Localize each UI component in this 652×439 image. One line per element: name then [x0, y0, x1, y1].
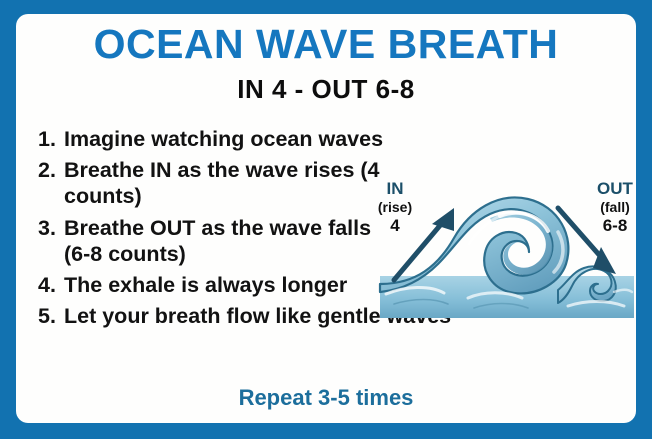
poster-card: OCEAN WAVE BREATH IN 4 - OUT 6-8 1. Imag… [16, 14, 636, 423]
ocean-wave-illustration: IN (rise) 4 OUT (fall) 6-8 [372, 172, 636, 330]
inhale-label: IN [387, 179, 404, 198]
list-item-number: 1. [38, 126, 64, 152]
list-item-number: 5. [38, 303, 64, 329]
list-item-label: Breathe IN as the wave rises (4 counts) [64, 157, 394, 209]
inhale-label-group: IN (rise) 4 [378, 179, 412, 235]
poster-frame: OCEAN WAVE BREATH IN 4 - OUT 6-8 1. Imag… [0, 0, 652, 439]
list-item: 1. Imagine watching ocean waves [38, 126, 538, 152]
list-item-label: Breathe OUT as the wave falls (6-8 count… [64, 215, 394, 267]
exhale-label: OUT [597, 179, 634, 198]
inhale-count: 4 [390, 216, 400, 235]
list-item-number: 2. [38, 157, 64, 183]
exhale-label-group: OUT (fall) 6-8 [597, 179, 634, 235]
inhale-arrow-icon [394, 208, 454, 280]
repeat-instruction: Repeat 3-5 times [16, 387, 636, 409]
list-item-number: 3. [38, 215, 64, 241]
list-item-label: Imagine watching ocean waves [64, 126, 394, 152]
inhale-sublabel: (rise) [378, 199, 412, 215]
page-title: OCEAN WAVE BREATH [16, 24, 636, 65]
exhale-sublabel: (fall) [600, 199, 630, 215]
page-subtitle: IN 4 - OUT 6-8 [16, 76, 636, 102]
exhale-count: 6-8 [603, 216, 628, 235]
list-item-number: 4. [38, 272, 64, 298]
